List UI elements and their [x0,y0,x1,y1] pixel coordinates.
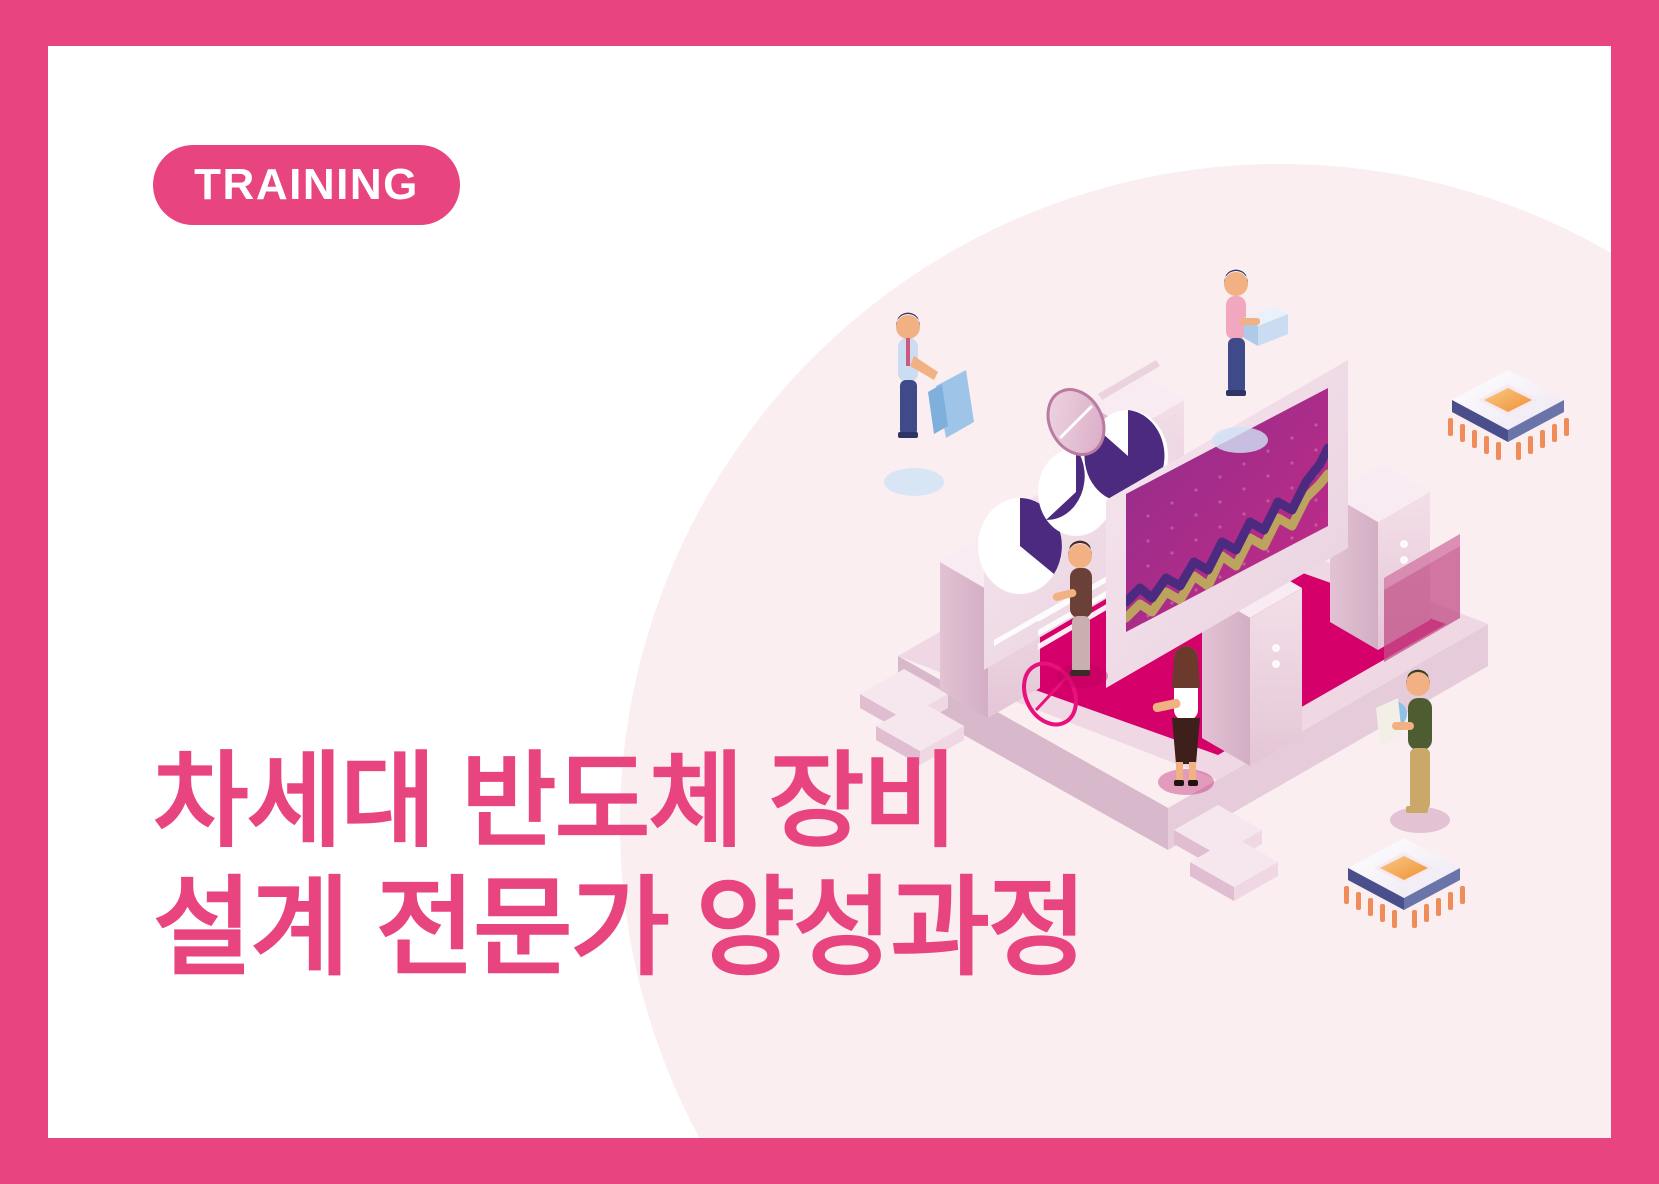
title-line-1: 차세대 반도체 장비 [153,746,1213,858]
microchip-bottom [1344,838,1465,928]
poster-frame: TRAINING [0,0,1659,1184]
microchip-top [1448,370,1569,460]
poster-card: TRAINING [48,46,1611,1138]
person-with-monitor [884,313,974,496]
training-badge-label: TRAINING [194,163,419,207]
training-badge[interactable]: TRAINING [153,145,460,225]
page-title: 차세대 반도체 장비 설계 전문가 양성과정 [153,746,1213,987]
title-line-2: 설계 전문가 양성과정 [153,870,1213,987]
